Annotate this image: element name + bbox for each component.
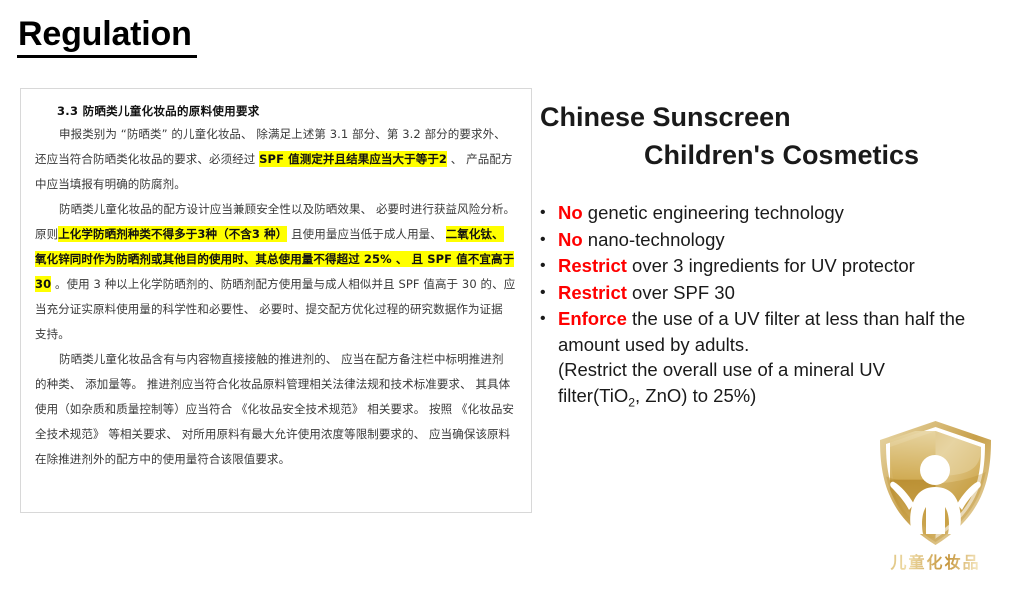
bullet-text: Restrict over 3 ingredients for UV prote… (558, 253, 1010, 279)
bullet-text: No genetic engineering technology (558, 200, 1010, 226)
bullet-body-text: over 3 ingredients for UV protector (627, 255, 915, 276)
logo-caption: 儿童化妆品 (868, 549, 1003, 573)
summary-bullet-list: •No genetic engineering technology•No na… (540, 200, 1010, 408)
document-text: 在除推进剂外的配方中的使用量符合该限值要求。 (35, 452, 290, 466)
document-text: 的种类、 添加量等。 推进剂应当符合化妆品原料管理相关法律法规和技术标准要求、 … (35, 377, 510, 391)
bullet-item: •Enforce the use of a UV filter at less … (540, 306, 1010, 408)
childrens-cosmetics-shield-logo: 儿童化妆品 (868, 418, 1003, 590)
bullet-item: •Restrict over SPF 30 (540, 280, 1010, 306)
document-line: 在除推进剂外的配方中的使用量符合该限值要求。 (35, 447, 517, 472)
document-text: 全技术规范》 等相关要求、 对所用原料有最大允许使用浓度等限制要求的、 应当确保… (35, 427, 510, 441)
document-line: 的种类、 添加量等。 推进剂应当符合化妆品原料管理相关法律法规和技术标准要求、 … (35, 372, 517, 397)
document-line: 还应当符合防晒类化妆品的要求、必须经过 SPF 值测定并且结果应当大于等于2 、… (35, 147, 517, 172)
document-text: 使用（如杂质和质量控制等）应当符合 《化妆品安全技术规范》 相关要求。 按照 《… (35, 402, 514, 416)
bullet-marker-icon: • (540, 306, 558, 332)
bullet-body-text: nano-technology (583, 229, 725, 250)
bullet-item: •Restrict over 3 ingredients for UV prot… (540, 253, 1010, 279)
bullet-keyword: Restrict (558, 282, 627, 303)
bullet-item: •No genetic engineering technology (540, 200, 1010, 226)
document-paragraph-list: 申报类别为 “防晒类” 的儿童化妆品、 除满足上述第 3.1 部分、第 3.2 … (35, 122, 517, 472)
page-title: Regulation (18, 14, 192, 54)
bullet-item: •No nano-technology (540, 227, 1010, 253)
document-text: 申报类别为 “防晒类” 的儿童化妆品、 除满足上述第 3.1 部分、第 3.2 … (59, 127, 506, 141)
document-text: 还应当符合防晒类化妆品的要求、必须经过 (35, 152, 259, 166)
page-title-underline (17, 55, 197, 58)
bullet-body-text: genetic engineering technology (583, 202, 844, 223)
summary-heading-line-1: Chinese Sunscreen (540, 98, 1010, 136)
document-text: 、 产品配方 (447, 152, 513, 166)
bullet-marker-icon: • (540, 253, 558, 279)
document-text: 且使用量应当低于成人用量、 (287, 227, 445, 241)
bullet-marker-icon: • (540, 200, 558, 226)
document-text: 原则 (35, 227, 58, 241)
document-line: 防晒类儿童化妆品的配方设计应当兼顾安全性以及防晒效果、 必要时进行获益风险分析。 (35, 197, 517, 222)
highlighted-text: 30 (35, 276, 51, 292)
document-line: 使用（如杂质和质量控制等）应当符合 《化妆品安全技术规范》 相关要求。 按照 《… (35, 397, 517, 422)
bullet-keyword: Restrict (558, 255, 627, 276)
document-line: 中应当填报有明确的防腐剂。 (35, 172, 517, 197)
document-line: 防晒类儿童化妆品含有与内容物直接接触的推进剂的、 应当在配方备注栏中标明推进剂 (35, 347, 517, 372)
document-section-heading: 3.3 防晒类儿童化妆品的原料使用要求 (57, 103, 517, 119)
document-line: 氧化锌同时作为防晒剂或其他目的使用时、其总使用量不得超过 25% 、 且 SPF… (35, 247, 517, 272)
document-line: 全技术规范》 等相关要求、 对所用原料有最大允许使用浓度等限制要求的、 应当确保… (35, 422, 517, 447)
document-line: 支持。 (35, 322, 517, 347)
bullet-keyword: No (558, 229, 583, 250)
bullet-text: No nano-technology (558, 227, 1010, 253)
bullet-note-line: filter(TiO2, ZnO) to 25%) (558, 383, 1010, 409)
document-line: 当充分证实原料使用量的科学性和必要性、 必要时、提交配方优化过程的研究数据作为证… (35, 297, 517, 322)
highlighted-text: 上化学防晒剂种类不得多于3种（不含3 种） (58, 226, 287, 242)
summary-heading-line-2: Children's Cosmetics (644, 136, 1010, 174)
bullet-marker-icon: • (540, 280, 558, 306)
document-text: 防晒类儿童化妆品含有与内容物直接接触的推进剂的、 应当在配方备注栏中标明推进剂 (59, 352, 504, 366)
bullet-marker-icon: • (540, 227, 558, 253)
document-line: 原则上化学防晒剂种类不得多于3种（不含3 种） 且使用量应当低于成人用量、 二氧… (35, 222, 517, 247)
bullet-text: Restrict over SPF 30 (558, 280, 1010, 306)
bullet-keyword: No (558, 202, 583, 223)
highlighted-text: 二氧化钛、 (446, 226, 504, 242)
document-text: 中应当填报有明确的防腐剂。 (35, 177, 186, 191)
bullet-text: Enforce the use of a UV filter at less t… (558, 306, 1010, 408)
bullet-note-line: (Restrict the overall use of a mineral U… (558, 357, 1010, 383)
child-head-icon (920, 455, 950, 485)
regulation-document-body: 3.3 防晒类儿童化妆品的原料使用要求 申报类别为 “防晒类” 的儿童化妆品、 … (21, 89, 531, 512)
shield-icon (868, 418, 1003, 548)
document-line: 30 。使用 3 种以上化学防晒剂的、防晒剂配方使用量与成人相似并且 SPF 值… (35, 272, 517, 297)
document-text: 当充分证实原料使用量的科学性和必要性、 必要时、提交配方优化过程的研究数据作为证… (35, 302, 503, 316)
document-text: 支持。 (35, 327, 70, 341)
bullet-body-text: over SPF 30 (627, 282, 735, 303)
document-text: 防晒类儿童化妆品的配方设计应当兼顾安全性以及防晒效果、 必要时进行获益风险分析。 (59, 202, 515, 216)
highlighted-text: SPF 值测定并且结果应当大于等于2 (259, 151, 447, 167)
highlighted-text: 氧化锌同时作为防晒剂或其他目的使用时、其总使用量不得超过 25% 、 且 SPF… (35, 251, 514, 267)
regulation-document-panel: 3.3 防晒类儿童化妆品的原料使用要求 申报类别为 “防晒类” 的儿童化妆品、 … (20, 88, 532, 513)
document-line: 申报类别为 “防晒类” 的儿童化妆品、 除满足上述第 3.1 部分、第 3.2 … (35, 122, 517, 147)
bullet-keyword: Enforce (558, 308, 627, 329)
document-text: 。使用 3 种以上化学防晒剂的、防晒剂配方使用量与成人相似并且 SPF 值高于 … (51, 277, 515, 291)
